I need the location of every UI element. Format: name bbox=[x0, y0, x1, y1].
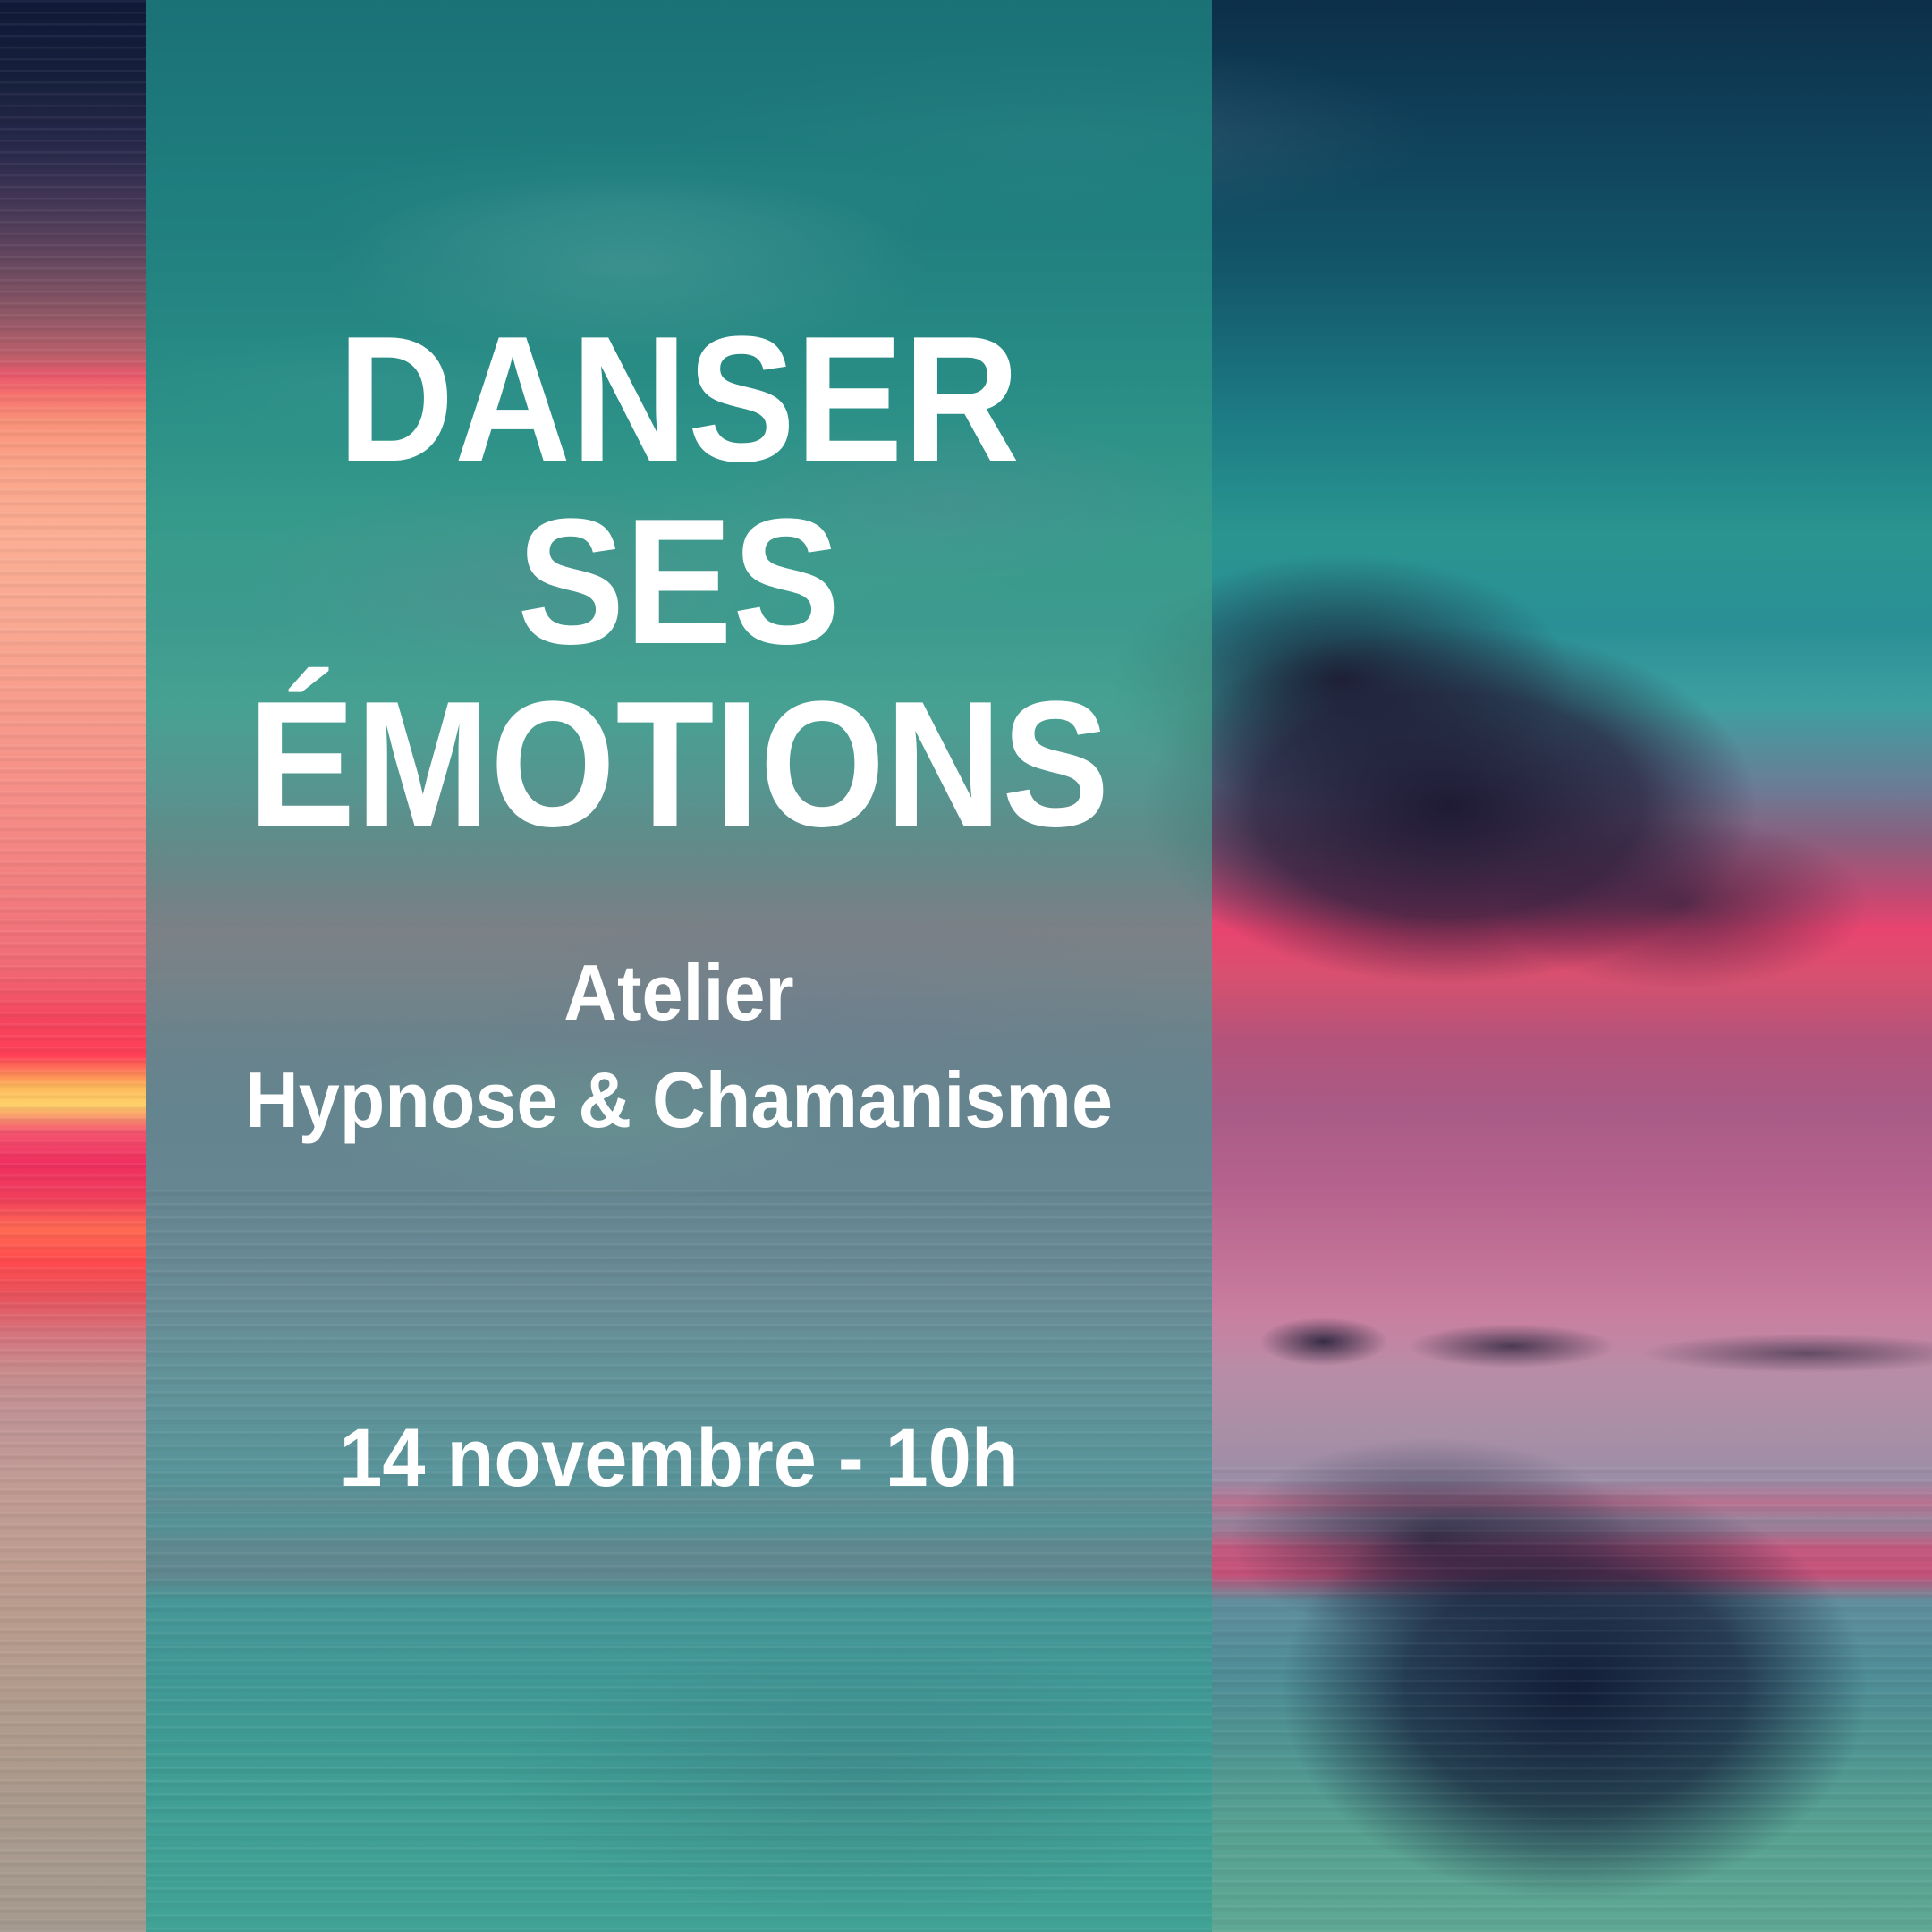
poster-title: DANSER SES ÉMOTIONS bbox=[199, 309, 1159, 856]
poster-subtitle-line-1: Atelier bbox=[563, 948, 793, 1037]
poster-datetime: 14 novembre - 10h bbox=[178, 1413, 1180, 1504]
poster-canvas: DANSER SES ÉMOTIONS Atelier Hypnose & Ch… bbox=[0, 0, 1932, 1932]
poster-subtitle-line-2: Hypnose & Chamanisme bbox=[178, 1046, 1180, 1154]
poster-title-line-2: ÉMOTIONS bbox=[199, 674, 1159, 856]
horizon-islands-layer bbox=[1216, 1257, 1932, 1373]
poster-subtitle: Atelier Hypnose & Chamanisme bbox=[178, 939, 1180, 1153]
poster-text-content: DANSER SES ÉMOTIONS Atelier Hypnose & Ch… bbox=[146, 0, 1212, 1932]
poster-title-line-1: DANSER SES bbox=[338, 300, 1021, 682]
left-strip-striations bbox=[0, 0, 146, 1932]
